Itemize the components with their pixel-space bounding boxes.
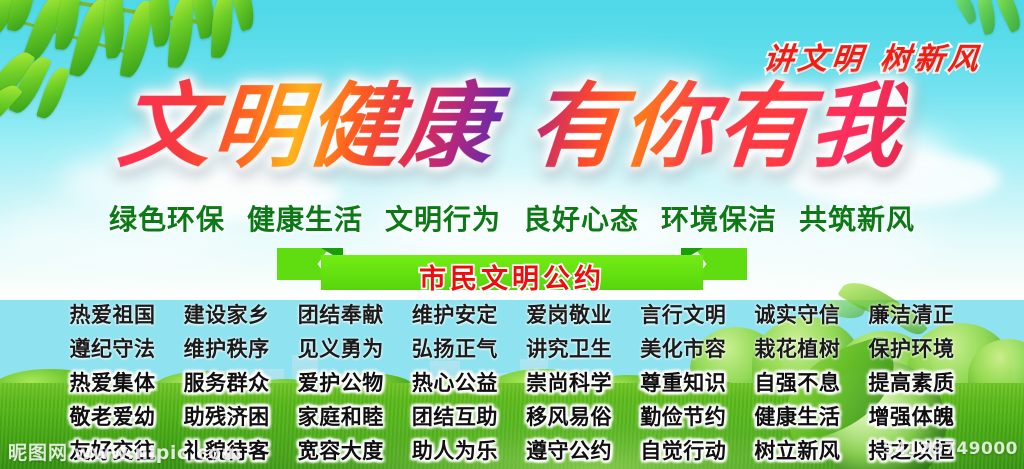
subtitle-line: 绿色环保健康生活文明行为良好心态环境保洁共筑新风 — [0, 198, 1024, 238]
leaf — [990, 0, 1024, 33]
pledge-item: 保护环境 — [855, 333, 968, 363]
pledge-item: 宽容大度 — [284, 435, 397, 465]
pledge-item: 建设家乡 — [170, 299, 283, 329]
pledge-item: 美化市容 — [627, 333, 740, 363]
pledge-item: 增强体魄 — [855, 401, 968, 431]
pledge-item: 移风易俗 — [513, 401, 626, 431]
ribbon-banner: 市民文明公约 — [277, 246, 747, 290]
pledge-item: 尊重知识 — [627, 367, 740, 397]
main-title-part2: 有你有我 — [524, 72, 909, 180]
pledge-item: 团结互助 — [398, 401, 511, 431]
pledge-item: 树立新风 — [741, 435, 854, 465]
pledge-item: 诚实守信 — [741, 299, 854, 329]
pledge-item: 言行文明 — [627, 299, 740, 329]
pledge-item: 提高素质 — [855, 367, 968, 397]
pledge-item: 廉洁清正 — [855, 299, 968, 329]
subtitle-item-3: 良好心态 — [523, 203, 639, 236]
pledge-item: 遵守公约 — [513, 435, 626, 465]
watermark-left: 昵图网 www.nipic.com — [8, 438, 242, 465]
subtitle-item-5: 共筑新风 — [799, 203, 915, 236]
pledge-row: 遵纪守法 维护秩序 见义勇为 弘扬正气 讲究卫生 美化市容 栽花植树 保护环境 — [56, 331, 968, 365]
main-title-part1: 文明健康 — [114, 72, 499, 180]
pledge-item: 自觉行动 — [627, 435, 740, 465]
subtitle-item-4: 环境保洁 — [661, 203, 777, 236]
pledge-item: 维护安定 — [398, 299, 511, 329]
pledge-item: 热爱集体 — [56, 367, 169, 397]
pledge-item: 家庭和睦 — [284, 401, 397, 431]
watermark-url: www.nipic.com — [74, 442, 242, 464]
main-title: 文明健康有你有我 — [115, 78, 909, 175]
pledge-item: 热爱祖国 — [56, 299, 169, 329]
pledge-item: 弘扬正气 — [398, 333, 511, 363]
watermark-id: 54129749000 — [882, 439, 1018, 459]
pledge-item: 崇尚科学 — [513, 367, 626, 397]
pledge-item: 遵纪守法 — [56, 333, 169, 363]
poster-canvas: 讲文明 树新风 文明健康有你有我 绿色环保健康生活文明行为良好心态环境保洁共筑新… — [0, 0, 1024, 469]
pledge-item: 热心公益 — [398, 367, 511, 397]
leaf — [949, 0, 981, 25]
pledge-row: 热爱祖国 建设家乡 团结奉献 维护安定 爱岗敬业 言行文明 诚实守信 廉洁清正 — [56, 297, 968, 331]
leaf — [974, 0, 999, 35]
pledge-item: 自强不息 — [741, 367, 854, 397]
pledge-row: 敬老爱幼 助残济困 家庭和睦 团结互助 移风易俗 勤俭节约 健康生活 增强体魄 — [56, 399, 968, 433]
subtitle-item-1: 健康生活 — [247, 203, 363, 236]
pledge-item: 维护秩序 — [170, 333, 283, 363]
pledge-item: 健康生活 — [741, 401, 854, 431]
pledge-item: 助人为乐 — [398, 435, 511, 465]
main-title-block: 文明健康有你有我 — [0, 78, 1024, 175]
banner-title: 市民文明公约 — [277, 257, 747, 296]
subtitle-item-0: 绿色环保 — [109, 203, 225, 236]
subtitle-item-2: 文明行为 — [385, 203, 501, 236]
watermark-brand: 昵图网 — [8, 438, 68, 465]
pledge-item: 爱岗敬业 — [513, 299, 626, 329]
pledge-item: 见义勇为 — [284, 333, 397, 363]
pledge-item: 讲究卫生 — [513, 333, 626, 363]
pledge-item: 爱护公物 — [284, 367, 397, 397]
pledge-item: 栽花植树 — [741, 333, 854, 363]
pledge-item: 服务群众 — [170, 367, 283, 397]
pledge-item: 敬老爱幼 — [56, 401, 169, 431]
pledge-item: 勤俭节约 — [627, 401, 740, 431]
pledge-row: 热爱集体 服务群众 爱护公物 热心公益 崇尚科学 尊重知识 自强不息 提高素质 — [56, 365, 968, 399]
leaf — [211, 0, 233, 58]
pledge-item: 助残济困 — [170, 401, 283, 431]
pledge-item: 团结奉献 — [284, 299, 397, 329]
leaf — [168, 0, 195, 69]
